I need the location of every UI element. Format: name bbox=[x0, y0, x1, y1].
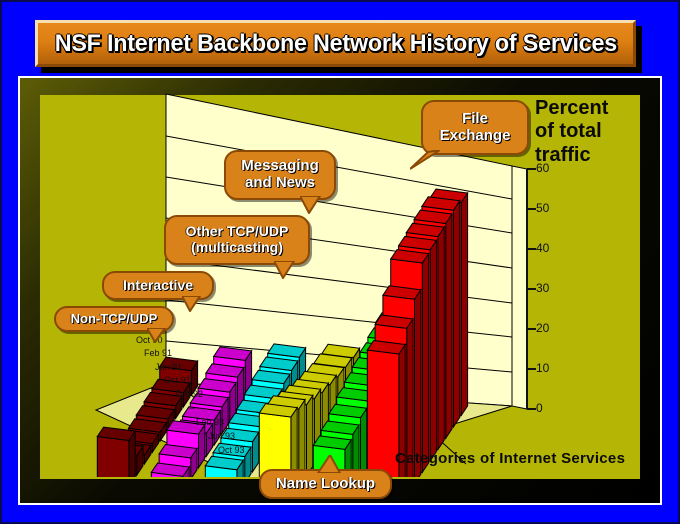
slide-root: NSF Internet Backbone Network History of… bbox=[0, 0, 680, 524]
callout-messaging-label: Messaging and News bbox=[241, 158, 319, 192]
callout-other-tcp-udp[interactable]: Other TCP/UDP (multicasting) bbox=[164, 215, 310, 265]
y-axis-title-line-1: Percent bbox=[535, 97, 655, 120]
callout-interactive-label: Interactive bbox=[123, 278, 193, 294]
depth-label-jun93: Jun 93 bbox=[208, 431, 235, 441]
callout-name-lookup[interactable]: Name Lookup bbox=[259, 469, 392, 499]
callout-name-lookup-label: Name Lookup bbox=[276, 476, 375, 493]
x-axis-title: Categories of Internet Services bbox=[395, 450, 625, 467]
ytick-20: 20 bbox=[536, 321, 549, 335]
y-axis-title-line-2: of total bbox=[535, 120, 655, 143]
depth-label-jun91: Jun 91 bbox=[155, 362, 182, 372]
ytick-50: 50 bbox=[536, 201, 549, 215]
callout-other-tcp-udp-label: Other TCP/UDP (multicasting) bbox=[186, 224, 289, 255]
title-banner: NSF Internet Backbone Network History of… bbox=[35, 20, 636, 67]
depth-label-feb91: Feb 91 bbox=[144, 348, 172, 358]
y-axis-title: Percent of total traffic bbox=[535, 97, 655, 167]
depth-label-oct93: Oct 93 bbox=[218, 445, 245, 455]
depth-label-jun92: -- bbox=[189, 403, 195, 413]
page-title: NSF Internet Backbone Network History of… bbox=[54, 30, 616, 58]
callout-file-exchange[interactable]: File Exchange bbox=[421, 100, 529, 155]
depth-label-feb92: Feb 92 bbox=[175, 389, 203, 399]
depth-label-oct91: Oct 91 bbox=[164, 375, 191, 385]
ytick-0: 0 bbox=[536, 401, 543, 415]
ytick-40: 40 bbox=[536, 241, 549, 255]
y-axis-title-line-3: traffic bbox=[535, 144, 655, 167]
callout-messaging[interactable]: Messaging and News bbox=[224, 150, 336, 200]
callout-file-exchange-label: File Exchange bbox=[440, 111, 511, 145]
depth-label-feb93: Feb 93 bbox=[196, 417, 224, 427]
title-box: NSF Internet Backbone Network History of… bbox=[35, 20, 636, 67]
callout-messaging-tail bbox=[300, 196, 324, 214]
ytick-10: 10 bbox=[536, 361, 549, 375]
callout-non-tcp-udp-tail bbox=[147, 328, 169, 343]
callout-other-tcp-udp-tail bbox=[274, 261, 298, 279]
ytick-30: 30 bbox=[536, 281, 549, 295]
callout-file-exchange-tail bbox=[410, 150, 440, 172]
callout-name-lookup-tail bbox=[316, 455, 342, 473]
callout-interactive-tail bbox=[182, 296, 204, 312]
callout-non-tcp-udp-label: Non-TCP/UDP bbox=[71, 312, 158, 327]
